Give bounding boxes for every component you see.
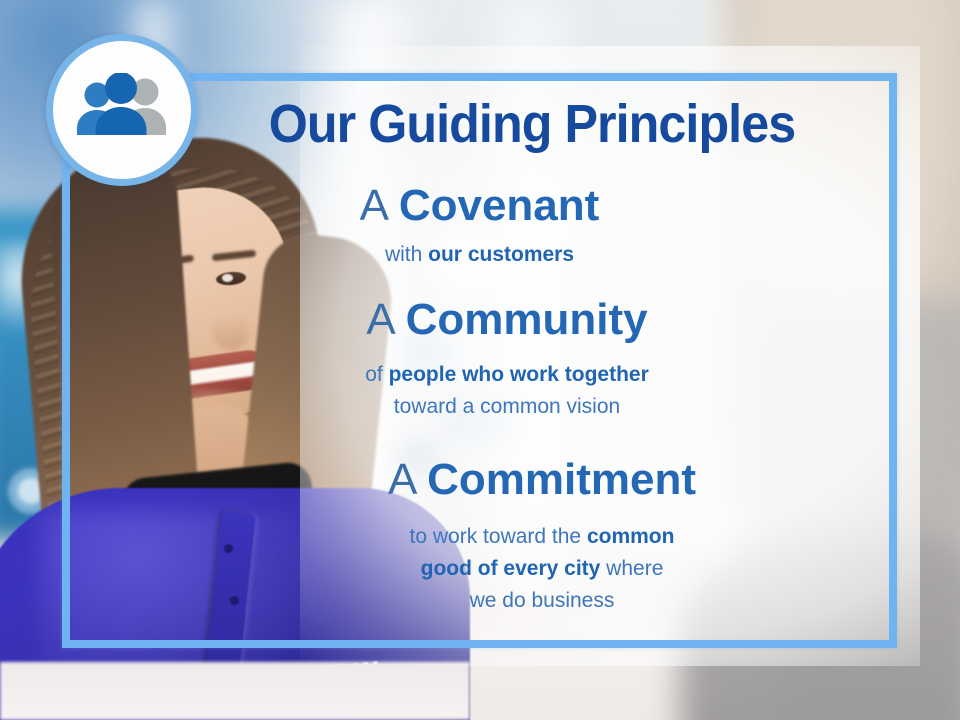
heading-word: Commitment (427, 455, 696, 504)
guiding-principles-graphic: FLOW AUTOMOTIVE FLOW Our Guidin (0, 0, 960, 720)
principle-subtitle-covenant: with our customers (62, 243, 897, 267)
desk-surface (0, 662, 470, 720)
sub-text: toward a common vision (394, 395, 620, 418)
principle-subtitle-community-line1: of people who work together (62, 363, 952, 387)
sub-text-bold: people who work together (389, 363, 649, 386)
sub-text: with (385, 243, 428, 266)
heading-word: Covenant (399, 181, 599, 230)
principle-heading-commitment: A Commitment (62, 455, 960, 504)
page-title: Our Guiding Principles (234, 97, 829, 151)
article-a: A (360, 181, 399, 230)
principle-heading-covenant: A Covenant (62, 181, 897, 230)
sub-text: of (365, 363, 388, 386)
principle-subtitle-commitment-line2: good of every city where (62, 557, 960, 581)
principle-subtitle-community-line2: toward a common vision (62, 395, 952, 419)
principle-subtitle-commitment-line1: to work toward the common (62, 525, 960, 549)
sub-text: we do business (470, 589, 615, 612)
principle-subtitle-commitment-line3: we do business (62, 589, 960, 613)
sub-text-bold: good of every city (421, 557, 601, 580)
article-a: A (366, 295, 405, 344)
sub-text-bold: common (587, 525, 675, 548)
sub-text-bold: our customers (428, 243, 574, 266)
sub-text: where (600, 557, 663, 580)
sub-text: to work toward the (410, 525, 587, 548)
text-content: Our Guiding Principles A Covenant with o… (62, 73, 897, 648)
principle-heading-community: A Community (62, 295, 952, 344)
heading-word: Community (406, 295, 648, 344)
article-a: A (388, 455, 427, 504)
